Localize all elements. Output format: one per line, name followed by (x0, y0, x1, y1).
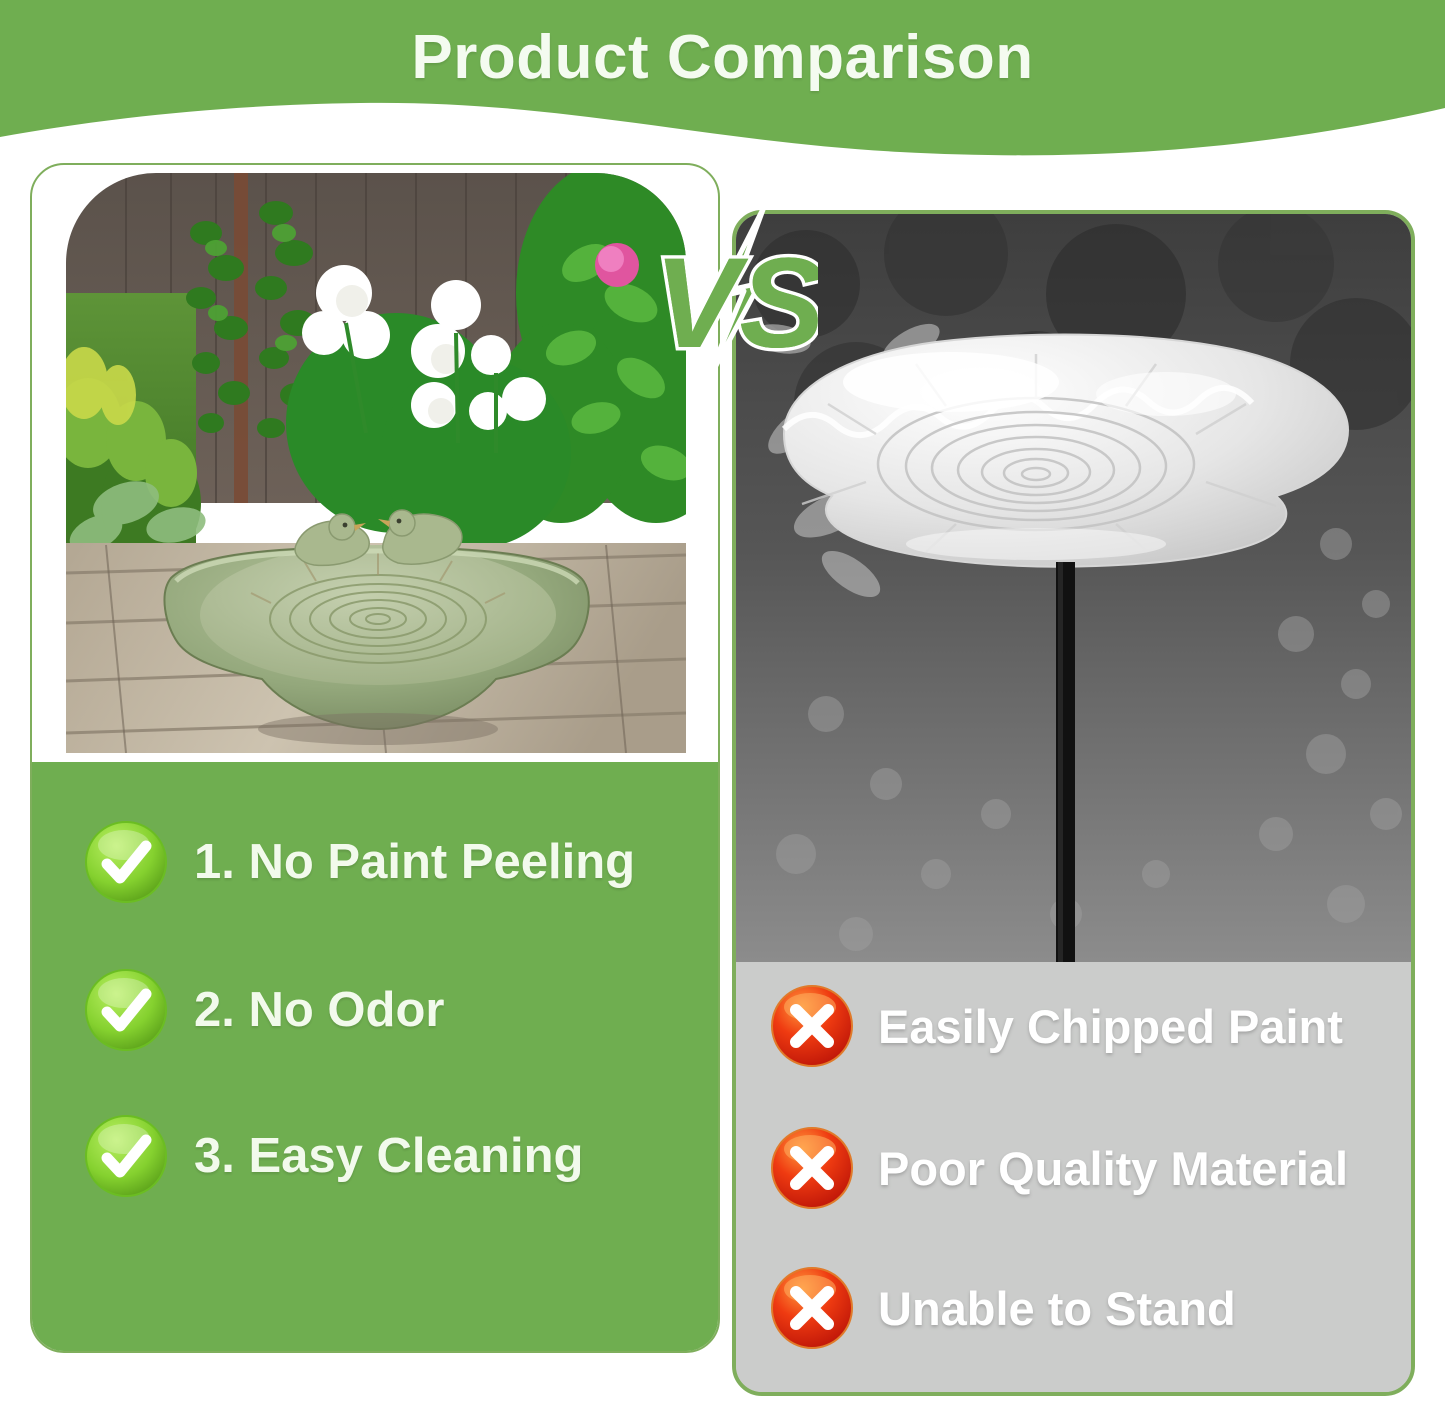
list-item-label: 3. Easy Cleaning (194, 1128, 583, 1184)
red-cross-circle-icon (770, 1266, 854, 1350)
red-cross-circle-icon (770, 984, 854, 1068)
green-check-circle-icon (84, 1114, 168, 1198)
list-item-label: 1. No Paint Peeling (194, 834, 635, 890)
list-item: 1. No Paint Peeling (84, 820, 635, 904)
list-item: Easily Chipped Paint (770, 984, 1343, 1068)
green-check-circle-icon (84, 968, 168, 1052)
green-check-circle-icon (84, 820, 168, 904)
pros-list: 1. No Paint Peeling 2. No Odor (32, 762, 718, 1351)
list-item-label: Easily Chipped Paint (878, 999, 1343, 1054)
comparison-infographic: Product Comparison (0, 0, 1445, 1409)
list-item-label: Poor Quality Material (878, 1141, 1348, 1196)
list-item-label: 2. No Odor (194, 982, 444, 1038)
list-item: Unable to Stand (770, 1266, 1236, 1350)
svg-text:VS: VS (654, 232, 818, 375)
red-cross-circle-icon (770, 1126, 854, 1210)
list-item: 2. No Odor (84, 968, 444, 1052)
header-banner: Product Comparison (0, 0, 1445, 160)
our-product-photo-frame (66, 173, 686, 753)
our-product-card: 1. No Paint Peeling 2. No Odor (30, 163, 720, 1353)
list-item: 3. Easy Cleaning (84, 1114, 583, 1198)
page-title: Product Comparison (0, 22, 1445, 93)
vs-badge: VS VS (648, 205, 818, 390)
competitor-product-card: Easily Chipped Paint Poor Quality Materi… (732, 210, 1415, 1396)
list-item: Poor Quality Material (770, 1126, 1348, 1210)
glass-birdbath-photo (736, 214, 1411, 962)
list-item-label: Unable to Stand (878, 1281, 1236, 1336)
ceramic-birdbath-photo (66, 173, 686, 753)
cons-list: Easily Chipped Paint Poor Quality Materi… (736, 962, 1411, 1392)
